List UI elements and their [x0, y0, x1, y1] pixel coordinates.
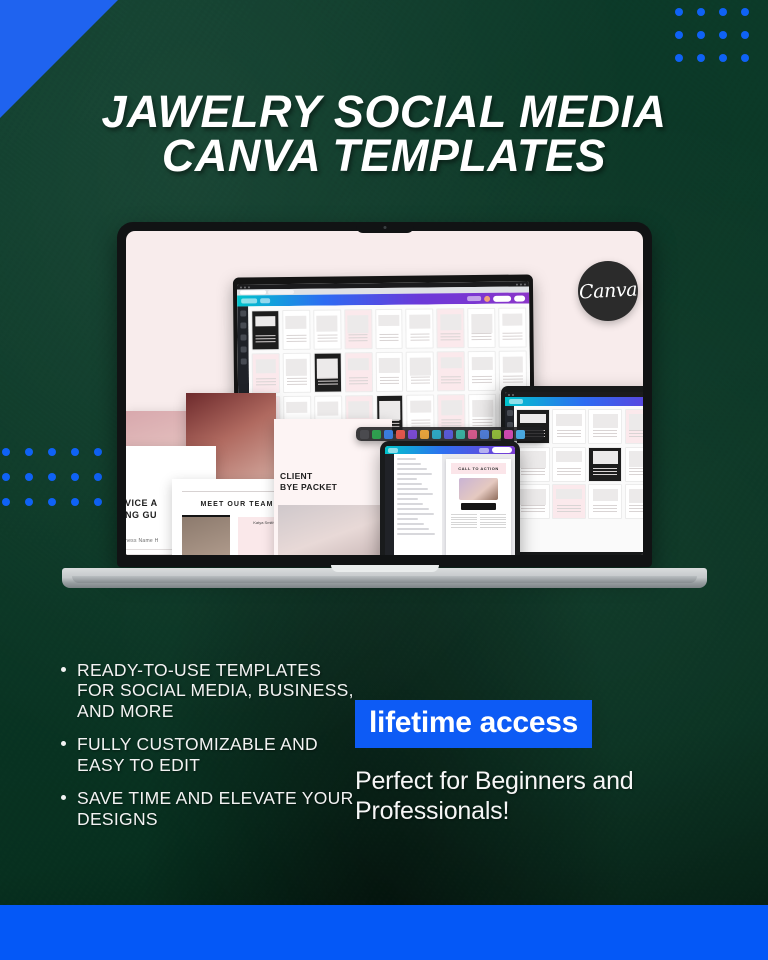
template-thumbnail — [406, 351, 434, 391]
outline-item — [397, 528, 429, 530]
thumbnail-image — [255, 316, 276, 327]
template-thumbnail — [625, 409, 643, 444]
sidebar-tool-icon — [240, 334, 246, 340]
text-column — [451, 514, 477, 528]
thumbnail-line — [557, 430, 581, 431]
template-thumbnail — [468, 351, 496, 391]
thumbnail-image — [520, 414, 545, 423]
thumbnail-line — [318, 384, 338, 385]
canva-toolbar — [505, 397, 643, 406]
thumbnail-line — [287, 384, 307, 385]
thumbnail-line — [318, 377, 338, 378]
template-thumbnail — [588, 409, 622, 444]
decorative-dot-icon — [719, 8, 727, 16]
thumbnail-line — [441, 376, 461, 377]
tablet-toolbar-actions — [479, 447, 512, 453]
outline-item — [397, 493, 433, 495]
thumbnail-image — [378, 314, 399, 326]
text-line — [480, 527, 506, 528]
template-thumbnail — [498, 308, 526, 348]
template-thumbnail — [252, 353, 280, 393]
thumbnail-line — [503, 382, 523, 383]
decorative-dot-icon — [48, 498, 56, 506]
dock-app-icon — [384, 430, 393, 439]
laptop-screen: Canva — [126, 231, 643, 555]
thumbnail-line — [256, 338, 276, 339]
outline-item — [397, 483, 422, 485]
template-thumbnail — [437, 308, 465, 348]
text-line — [451, 522, 477, 523]
outline-item — [397, 468, 427, 470]
dock-app-icon — [396, 430, 405, 439]
thumbnail-line — [629, 474, 643, 475]
decorative-dot-icon — [2, 448, 10, 456]
thumbnail-line — [411, 419, 431, 420]
thumbnail-line — [503, 375, 523, 376]
thumbnail-line — [348, 334, 368, 335]
thumbnail-line — [521, 471, 545, 472]
decorative-dot-icon — [48, 448, 56, 456]
template-thumbnail — [516, 447, 550, 482]
dock-app-icon — [408, 430, 417, 439]
thumbnail-image — [472, 399, 493, 417]
thumbnail-line — [441, 333, 461, 334]
thumbnail-line — [441, 383, 461, 384]
outline-item — [397, 458, 416, 460]
thumbnail-image — [441, 400, 462, 415]
thumbnail-image — [593, 489, 618, 501]
avatar — [484, 295, 490, 301]
laptop-lid-notch — [331, 565, 439, 572]
laptop-lid: Canva — [117, 222, 652, 567]
thumbnail-image — [255, 359, 276, 374]
thumbnail-line — [349, 377, 369, 378]
canva-toolbar-actions — [467, 295, 525, 302]
menubar-dot-icon — [240, 286, 242, 288]
tablet-sidebar-rail — [385, 454, 394, 555]
thumbnail-line — [557, 474, 581, 475]
thumbnail-image — [440, 314, 461, 331]
dock-app-icon — [492, 430, 501, 439]
thumbnail-line — [472, 336, 492, 337]
canva-toolbar-chip — [509, 399, 523, 404]
browser-tab — [240, 290, 266, 294]
text-line — [451, 514, 477, 515]
advice-line-1: VICE A — [126, 498, 158, 510]
tablet-page-text-block — [451, 514, 506, 528]
thumbnail-line — [557, 468, 581, 469]
thumbnail-image — [629, 451, 643, 466]
thumbnail-line — [287, 377, 307, 378]
headline-line-2: CANVA TEMPLATES — [0, 134, 768, 178]
decorative-dot-icon — [741, 54, 749, 62]
thumbnail-line — [287, 341, 307, 342]
outline-item — [397, 488, 428, 490]
outline-item — [397, 508, 429, 510]
thumbnail-line — [503, 339, 523, 340]
template-thumbnail — [313, 309, 341, 349]
tablet-toolbar-chip — [388, 448, 398, 453]
thumbnail-line — [557, 436, 581, 437]
thumbnail-line — [379, 333, 399, 334]
canva-primary-button — [514, 295, 525, 301]
thumbnail-image — [410, 357, 431, 375]
thumbnail-line — [472, 382, 492, 383]
thumbnail-image — [379, 357, 400, 373]
decorative-dot-icon — [2, 498, 10, 506]
decorative-dot-icon — [48, 473, 56, 481]
text-line — [480, 519, 506, 520]
decorative-dot-icon — [719, 31, 727, 39]
thumbnail-line — [441, 379, 461, 380]
thumbnail-line — [503, 379, 523, 380]
tablet-outline-list — [394, 454, 442, 555]
thumbnail-line — [593, 436, 617, 437]
thumbnail-line — [521, 468, 545, 469]
thumbnail-image — [441, 357, 462, 368]
feature-item: SAVE TIME AND ELEVATE YOUR DESIGNS — [55, 788, 355, 829]
thumbnail-line — [503, 336, 523, 337]
thumbnail-line — [441, 336, 461, 337]
decorative-dot-icon — [675, 54, 683, 62]
feature-list: READY-TO-USE TEMPLATES FOR SOCIAL MEDIA,… — [55, 660, 355, 842]
thumbnail-image — [317, 358, 338, 378]
thumbnail-line — [411, 422, 431, 423]
bottom-accent-bar — [0, 905, 768, 960]
sidebar-tool-icon — [240, 322, 246, 328]
decorative-dot-icon — [675, 8, 683, 16]
canva-logo-icon: Canva — [578, 261, 638, 321]
thumbnail-line — [629, 430, 643, 431]
tablet-page-image — [459, 478, 498, 500]
thumbnail-image — [317, 315, 338, 331]
menubar-dot-icon — [520, 283, 522, 285]
thumbnail-line — [473, 422, 493, 423]
dock-app-icon — [468, 430, 477, 439]
tablet-document-canvas: CALL TO ACTION — [442, 454, 515, 555]
text-line — [451, 519, 477, 520]
advice-line-2: NG GU — [126, 510, 157, 522]
tablet-search-field — [492, 447, 512, 453]
template-thumbnail — [552, 447, 586, 482]
thumbnail-line — [442, 422, 462, 423]
canva-share-button — [493, 295, 511, 301]
thumbnail-line — [411, 383, 431, 384]
thumbnail-image — [520, 489, 545, 505]
thumbnail-line — [287, 381, 307, 382]
thumbnail-line — [256, 378, 276, 379]
advice-subtext: ness Name H — [126, 538, 159, 544]
thumbnail-line — [593, 508, 617, 509]
secondary-laptop-mockup — [501, 386, 643, 555]
menubar-dot-icon — [508, 394, 510, 396]
thumbnail-line — [593, 505, 617, 506]
outline-item — [397, 498, 418, 500]
decorative-dot-icon — [675, 31, 683, 39]
page-title: JAWELRY SOCIAL MEDIA CANVA TEMPLATES — [0, 90, 768, 178]
thumbnail-line — [441, 340, 461, 341]
thumbnail-image — [629, 414, 643, 430]
client-card-title: CLIENT BYE PACKET — [280, 471, 337, 492]
thumbnail-image — [520, 451, 545, 468]
canva-toolbar-chip — [467, 296, 481, 301]
dock-app-icon — [456, 430, 465, 439]
outline-item — [397, 473, 432, 475]
text-line — [451, 517, 477, 518]
sidebar-tool-icon — [507, 410, 513, 416]
thumbnail-image — [348, 315, 369, 334]
macos-dock — [356, 427, 544, 441]
thumbnail-line — [557, 505, 581, 506]
decorative-dot-icon — [25, 448, 33, 456]
thumbnail-line — [593, 468, 617, 469]
dock-app-icon — [504, 430, 513, 439]
thumbnail-image — [471, 313, 492, 333]
secondary-laptop-screen — [505, 392, 643, 552]
outline-item — [397, 513, 434, 515]
thumbnail-image — [502, 313, 523, 325]
thumbnail-line — [521, 505, 545, 506]
tablet-page-title: CALL TO ACTION — [451, 463, 506, 474]
thumbnail-line — [557, 433, 581, 434]
thumbnail-line — [379, 340, 399, 341]
decorative-dot-icon — [697, 54, 705, 62]
thumbnail-image — [287, 401, 308, 413]
dock-app-icon — [420, 430, 429, 439]
decorative-dot-icon — [719, 54, 727, 62]
thumbnail-line — [472, 379, 492, 380]
tablet-workspace: CALL TO ACTION — [385, 454, 515, 555]
thumbnail-line — [473, 418, 493, 419]
thumbnail-line — [256, 342, 276, 343]
text-line — [451, 527, 477, 528]
laptop-foot — [72, 576, 697, 583]
thumbnail-line — [349, 380, 369, 381]
decorative-dot-icon — [741, 8, 749, 16]
thumbnail-line — [410, 379, 430, 380]
thumbnail-line — [503, 332, 523, 333]
menubar-dot-icon — [248, 286, 250, 288]
sidebar-tool-icon — [240, 310, 246, 316]
thumbnail-line — [593, 511, 617, 512]
outline-item — [397, 478, 417, 480]
text-column — [480, 514, 506, 528]
decorative-dot-icon — [2, 473, 10, 481]
canva-toolbar-chip — [241, 298, 257, 303]
thumbnail-image — [286, 315, 307, 329]
menubar-dot-icon — [244, 286, 246, 288]
thumbnail-line — [472, 339, 492, 340]
template-thumbnail — [313, 352, 341, 392]
thumbnail-line — [410, 333, 430, 334]
client-line-2: BYE PACKET — [280, 482, 337, 492]
text-line — [451, 524, 477, 525]
template-thumbnail — [283, 353, 311, 393]
thumbnail-line — [348, 337, 368, 338]
decorative-dot-icon — [25, 498, 33, 506]
feature-item: FULLY CUSTOMIZABLE AND EASY TO EDIT — [55, 734, 355, 775]
thumbnail-line — [380, 383, 400, 384]
thumbnail-line — [286, 334, 306, 335]
thumbnail-line — [593, 433, 617, 434]
thumbnail-line — [442, 419, 462, 420]
thumbnail-line — [629, 471, 643, 472]
outline-item — [397, 518, 418, 520]
thumbnail-line — [472, 332, 492, 333]
poster-canvas: JAWELRY SOCIAL MEDIA CANVA TEMPLATES Can… — [0, 0, 768, 960]
lifetime-access-badge: lifetime access — [355, 700, 592, 748]
thumbnail-line — [286, 338, 306, 339]
template-thumbnail — [516, 484, 550, 519]
thumbnail-image — [593, 414, 618, 428]
decorative-dot-icon — [697, 8, 705, 16]
thumbnail-line — [317, 341, 337, 342]
template-thumbnail — [437, 351, 465, 391]
laptop-mockup: Canva — [62, 222, 707, 600]
decorative-dot-icon — [741, 31, 749, 39]
tablet-screen: CALL TO ACTION — [385, 446, 515, 555]
thumbnail-line — [557, 508, 581, 509]
thumbnail-line — [521, 474, 545, 475]
thumbnail-line — [380, 376, 400, 377]
thumbnail-line — [317, 334, 337, 335]
thumbnail-line — [629, 508, 643, 509]
thumbnail-line — [256, 335, 276, 336]
thumbnail-line — [256, 381, 276, 382]
sidebar-tool-icon — [240, 358, 246, 364]
thumbnail-line — [318, 380, 338, 381]
promo-block: lifetime access Perfect for Beginners an… — [355, 700, 715, 826]
text-line — [480, 514, 506, 515]
thumbnail-line — [521, 508, 545, 509]
thumbnail-image — [472, 356, 493, 370]
team-member-photo — [182, 517, 230, 555]
thumbnail-line — [521, 511, 545, 512]
thumbnail-line — [629, 511, 643, 512]
dock-app-icon — [372, 430, 381, 439]
thumbnail-line — [557, 511, 581, 512]
thumbnail-image — [348, 358, 369, 371]
outline-item — [397, 533, 435, 535]
thumbnail-image — [502, 356, 523, 373]
text-line — [480, 517, 506, 518]
text-line — [480, 522, 506, 523]
thumbnail-image — [409, 314, 430, 328]
template-thumbnail — [344, 309, 372, 349]
laptop-notch-icon — [356, 222, 414, 233]
template-thumbnail — [282, 310, 310, 350]
browser-tab — [268, 290, 294, 294]
template-thumbnail — [251, 310, 279, 350]
dock-app-icon — [480, 430, 489, 439]
thumbnail-line — [593, 471, 617, 472]
thumbnail-image — [410, 400, 431, 413]
thumbnail-line — [557, 471, 581, 472]
outline-item — [397, 463, 421, 465]
sidebar-tool-icon — [240, 346, 246, 352]
thumbnail-line — [472, 375, 492, 376]
dot-grid-top-right — [668, 8, 756, 77]
template-thumbnail — [588, 447, 622, 482]
thumbnail-image — [318, 401, 339, 416]
thumbnail-line — [629, 505, 643, 506]
thumbnail-image — [629, 489, 643, 503]
canva-toolbar-chip — [260, 298, 270, 303]
template-thumbnail — [344, 352, 372, 392]
thumbnail-image — [556, 489, 581, 499]
dock-app-icon — [360, 430, 369, 439]
tablet-mockup: CALL TO ACTION — [380, 441, 520, 555]
promo-subtitle: Perfect for Beginners and Professionals! — [355, 766, 715, 826]
dock-app-icon — [516, 430, 525, 439]
template-thumbnail — [552, 409, 586, 444]
tablet-toolbar — [385, 446, 515, 454]
thumbnail-line — [379, 337, 399, 338]
thumbnail-line — [317, 337, 337, 338]
decorative-dot-icon — [697, 31, 705, 39]
thumbnail-image — [348, 401, 369, 418]
tablet-document-page: CALL TO ACTION — [446, 459, 511, 555]
thumbnail-image — [286, 358, 307, 376]
template-thumbnail — [499, 351, 527, 391]
template-thumbnail — [625, 484, 643, 519]
laptop-base — [62, 568, 707, 588]
template-thumbnail — [588, 484, 622, 519]
thumbnail-line — [348, 341, 368, 342]
thumbnail-image — [593, 451, 618, 464]
thumbnail-line — [629, 436, 643, 437]
menubar-dot-icon — [512, 394, 514, 396]
outline-item — [397, 503, 423, 505]
menubar-status-icons — [516, 283, 526, 285]
canva-logo-text: Canva — [578, 278, 637, 303]
thumbnail-line — [256, 385, 276, 386]
thumbnail-line — [410, 376, 430, 377]
thumbnail-image — [556, 451, 581, 462]
menubar-dot-icon — [516, 283, 518, 285]
thumbnail-line — [593, 474, 617, 475]
client-line-1: CLIENT — [280, 471, 313, 481]
template-thumbnail — [375, 352, 403, 392]
thumbnail-line — [629, 468, 643, 469]
thumbnail-line — [629, 433, 643, 434]
thumbnail-line — [410, 336, 430, 337]
menubar-dot-icon — [524, 283, 526, 285]
outline-item — [397, 523, 424, 525]
template-thumbnail — [406, 308, 434, 348]
thumbnail-image — [379, 400, 400, 420]
template-thumbnail — [467, 308, 495, 348]
text-line — [480, 524, 506, 525]
template-thumbnail — [625, 447, 643, 482]
feature-item: READY-TO-USE TEMPLATES FOR SOCIAL MEDIA,… — [55, 660, 355, 721]
tablet-toolbar-chip — [479, 448, 489, 453]
client-card-photo — [278, 505, 388, 555]
tablet-page-cta-button — [461, 503, 495, 510]
thumbnail-image — [556, 414, 581, 426]
decorative-dot-icon — [25, 473, 33, 481]
thumbnail-line — [349, 384, 369, 385]
thumbnail-line — [380, 380, 400, 381]
dock-app-icon — [444, 430, 453, 439]
template-thumbnail — [552, 484, 586, 519]
thumbnail-line — [410, 340, 430, 341]
dock-app-icon — [432, 430, 441, 439]
template-thumbnail — [375, 309, 403, 349]
thumbnail-line — [593, 430, 617, 431]
